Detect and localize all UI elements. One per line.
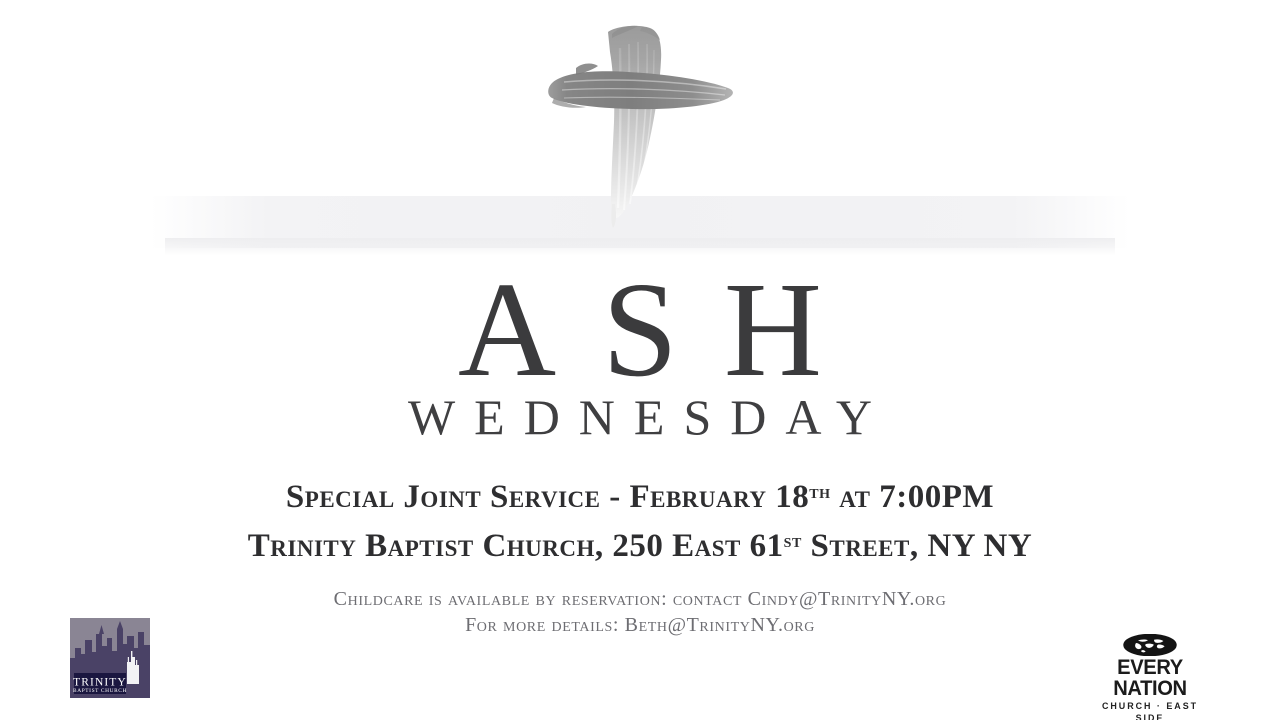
service-line1-main: Special Joint Service - February 18 — [286, 479, 809, 515]
service-line2-tail: Street, NY NY — [802, 528, 1032, 564]
every-nation-logo: EVERY NATION CHURCH · EAST SIDE — [1086, 634, 1214, 690]
page-title-ash: ASH — [0, 262, 1280, 398]
service-line1-tail: at 7:00PM — [831, 479, 995, 515]
every-nation-wordmark: EVERY NATION — [1089, 657, 1212, 699]
trinity-baptist-church-logo: TRINITY BAPTIST CHURCH — [70, 618, 150, 698]
svg-text:TRINITY: TRINITY — [73, 677, 127, 689]
service-line2-main: Trinity Baptist Church, 250 East 61 — [248, 528, 784, 564]
svg-text:BAPTIST CHURCH: BAPTIST CHURCH — [73, 688, 127, 694]
ash-wednesday-slide: ASH WEDNESDAY Special Joint Service - Fe… — [0, 0, 1280, 720]
service-line1-ordinal: th — [809, 481, 830, 503]
contact-note: Childcare is available by reservation: c… — [0, 586, 1280, 638]
service-detail-line-1: Special Joint Service - February 18th at… — [0, 470, 1280, 519]
note-line-childcare: Childcare is available by reservation: c… — [0, 586, 1280, 612]
service-detail-line-2: Trinity Baptist Church, 250 East 61st St… — [0, 519, 1280, 568]
every-nation-tagline: CHURCH · EAST SIDE — [1090, 701, 1210, 720]
service-details: Special Joint Service - February 18th at… — [0, 470, 1280, 568]
globe-icon — [1086, 634, 1214, 656]
ash-cross-icon — [520, 18, 780, 248]
service-line2-ordinal: st — [784, 530, 802, 552]
page-title-wednesday: WEDNESDAY — [0, 392, 1280, 442]
